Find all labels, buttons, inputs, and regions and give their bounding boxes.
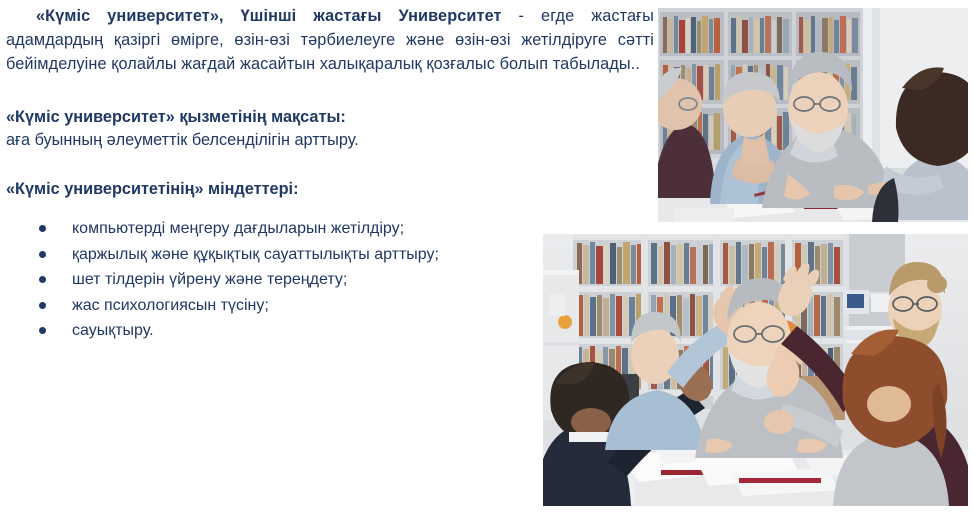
photo-top-illustration (658, 8, 968, 222)
photo-seniors-library-high-five (543, 234, 968, 506)
bullet-icon (39, 327, 46, 334)
list-item-label: сауықтыру. (72, 322, 154, 339)
tasks-heading: «Күміс университетінің» міндеттері: (6, 152, 654, 201)
bullet-icon (39, 251, 46, 258)
goal-block: «Күміс университет» қызметінің мақсаты: … (6, 106, 654, 152)
intro-lead: «Күміс университет», Үшінші жастағы Унив… (36, 7, 502, 25)
photo-bottom-illustration (543, 234, 968, 506)
list-item-label: компьютерді меңгеру дағдыларын жетілдіру… (72, 220, 404, 237)
bullet-icon (39, 302, 46, 309)
bullet-icon (39, 225, 46, 232)
goal-text: аға буынның әлеуметтік белсенділігін арт… (6, 129, 654, 152)
goal-heading: «Күміс университет» қызметінің мақсаты: (6, 106, 654, 129)
list-item-label: шет тілдерін үйрену және тереңдету; (72, 271, 347, 288)
list-item-label: жас психологиясын түсіну; (72, 297, 269, 314)
list-item-label: қаржылық және құқықтық сауаттылықты артт… (72, 246, 439, 263)
slide-root: «Күміс университет», Үшінші жастағы Унив… (0, 0, 974, 515)
bullet-icon (39, 276, 46, 283)
intro-paragraph: «Күміс университет», Үшінші жастағы Унив… (6, 4, 654, 76)
photo-seniors-library-discussion (658, 8, 968, 222)
